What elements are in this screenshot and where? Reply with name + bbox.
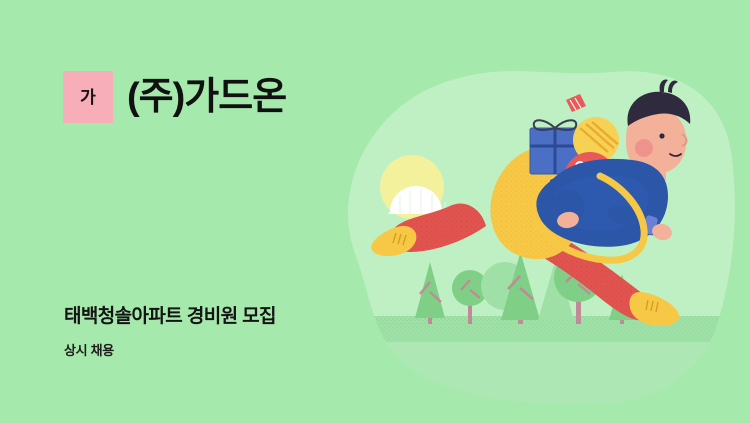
company-initial-badge: 가 (63, 71, 113, 123)
cheek (635, 139, 653, 157)
illustration-svg (300, 30, 750, 423)
hiring-type: 상시 채용 (64, 343, 276, 360)
ground-wave (330, 316, 730, 410)
brand-header: 가 (주)가드온 (63, 71, 286, 123)
job-info: 태백청솔아파트 경비원 모집 상시 채용 (64, 305, 276, 360)
job-title: 태백청솔아파트 경비원 모집 (64, 305, 276, 329)
eye (659, 133, 664, 138)
company-name: (주)가드온 (127, 78, 286, 116)
courier-illustration (300, 30, 750, 423)
job-posting-banner: 가 (주)가드온 태백청솔아파트 경비원 모집 상시 채용 (0, 0, 750, 423)
